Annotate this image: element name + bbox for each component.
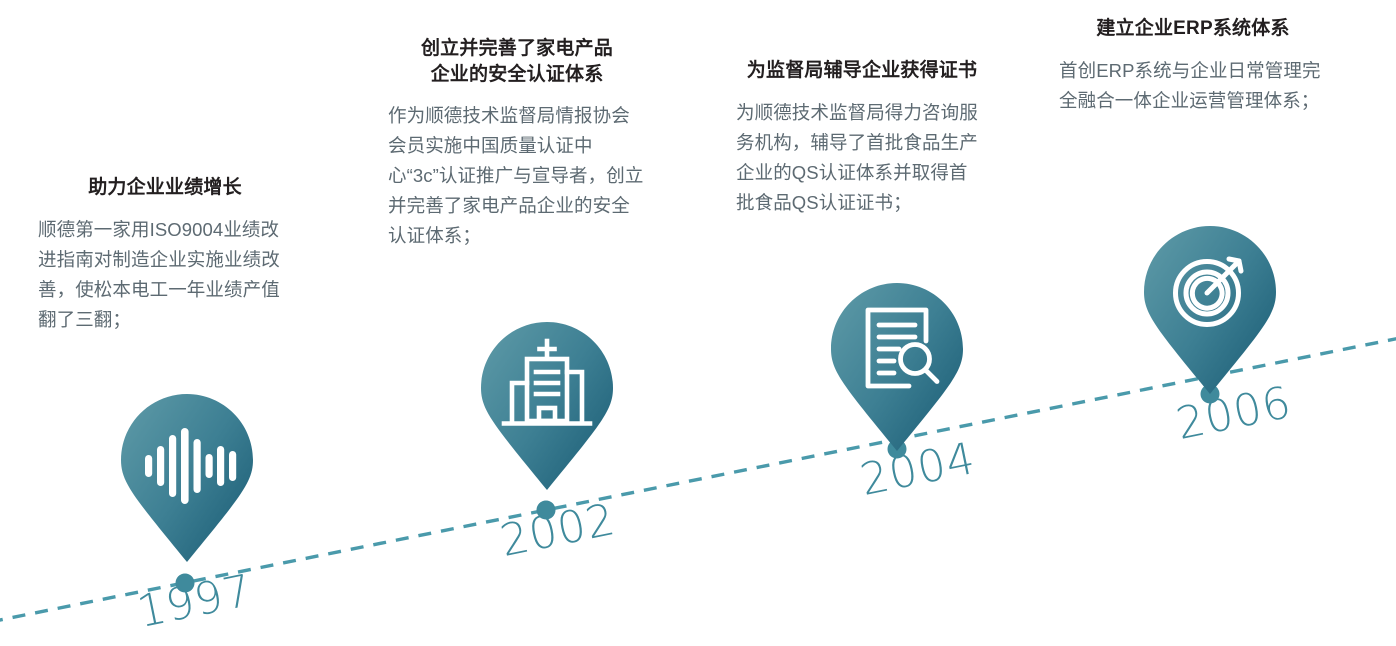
milestone-pin-2004[interactable] [831, 283, 963, 451]
milestone-title-2004: 为监督局辅导企业获得证书 [718, 58, 1006, 84]
milestone-body-1997: 顺德第一家用ISO9004业绩改进指南对制造企业实施业绩改善，使松本电工一年业绩… [38, 215, 292, 335]
milestone-body-2006: 首创ERP系统与企业日常管理完全融合一体企业运营管理体系； [1049, 56, 1337, 116]
milestone-pin-1997[interactable] [121, 394, 253, 562]
timeline-infographic: 助力企业业绩增长 顺德第一家用ISO9004业绩改进指南对制造企业实施业绩改善，… [0, 0, 1396, 646]
milestone-title-2002: 创立并完善了家电产品 企业的安全认证体系 [388, 36, 646, 87]
milestone-title-2006: 建立企业ERP系统体系 [1049, 16, 1337, 42]
milestone-block-2004: 为监督局辅导企业获得证书 为顺德技术监督局得力咨询服务机构，辅导了首批食品生产企… [718, 58, 1006, 218]
milestone-block-1997: 助力企业业绩增长 顺德第一家用ISO9004业绩改进指南对制造企业实施业绩改善，… [38, 175, 292, 335]
milestone-year-2002: 2002 [496, 494, 620, 567]
milestone-body-2004: 为顺德技术监督局得力咨询服务机构，辅导了首批食品生产企业的QS认证体系并取得首批… [718, 98, 1006, 218]
milestone-title-1997: 助力企业业绩增长 [38, 175, 292, 201]
milestone-pin-2006[interactable] [1144, 226, 1276, 394]
milestone-pin-2002[interactable] [481, 322, 613, 490]
milestone-block-2006: 建立企业ERP系统体系 首创ERP系统与企业日常管理完全融合一体企业运营管理体系… [1049, 16, 1337, 116]
milestone-body-2002: 作为顺德技术监督局情报协会会员实施中国质量认证中心“3c”认证推广与宣导者，创立… [388, 101, 646, 251]
milestone-block-2002: 创立并完善了家电产品 企业的安全认证体系 作为顺德技术监督局情报协会会员实施中国… [388, 36, 646, 251]
milestone-year-1997: 1997 [133, 565, 257, 638]
